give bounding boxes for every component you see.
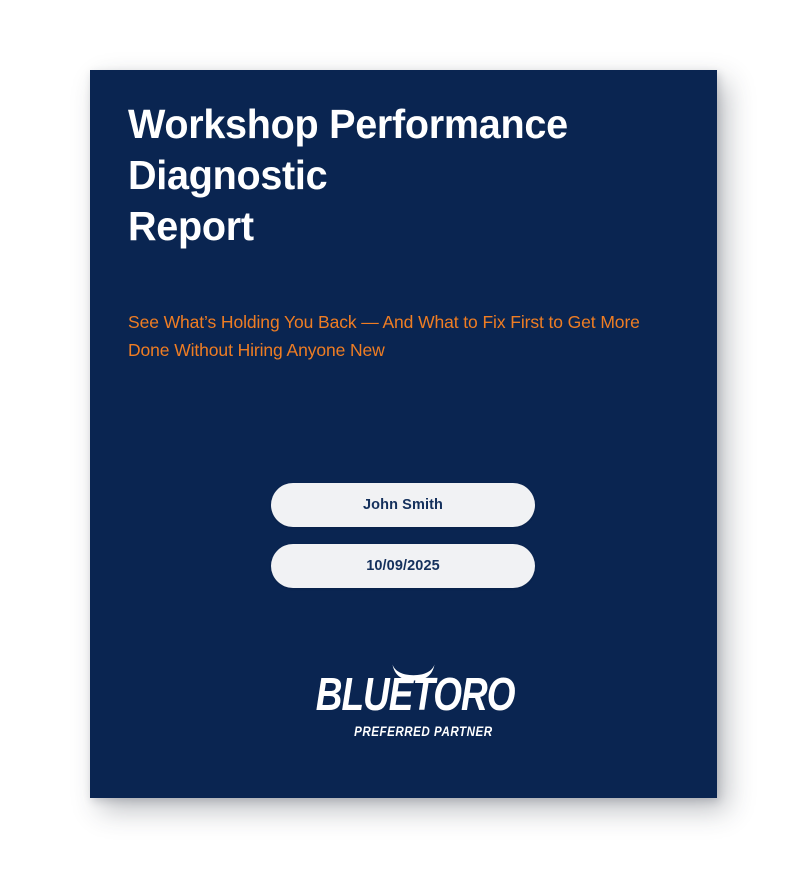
- page-title: Workshop Performance Diagnostic Report: [128, 99, 649, 252]
- brand-logo: BLUETORO PREFERRED PARTNER: [90, 664, 717, 739]
- report-cover-card: Workshop Performance Diagnostic Report S…: [90, 70, 717, 798]
- client-name-pill[interactable]: John Smith: [271, 483, 535, 527]
- cover-fields: John Smith 10/09/2025: [271, 483, 535, 588]
- subtitle-block: See What’s Holding You Back — And What t…: [128, 308, 680, 364]
- report-date-pill[interactable]: 10/09/2025: [271, 544, 535, 588]
- title-block: Workshop Performance Diagnostic Report: [128, 99, 668, 252]
- logo-wordmark-text: BLUETORO: [315, 672, 491, 719]
- logo-wordmark-wrap: BLUETORO: [299, 664, 509, 716]
- report-subtitle: See What’s Holding You Back — And What t…: [128, 308, 680, 364]
- logo-tagline: PREFERRED PARTNER: [314, 724, 492, 739]
